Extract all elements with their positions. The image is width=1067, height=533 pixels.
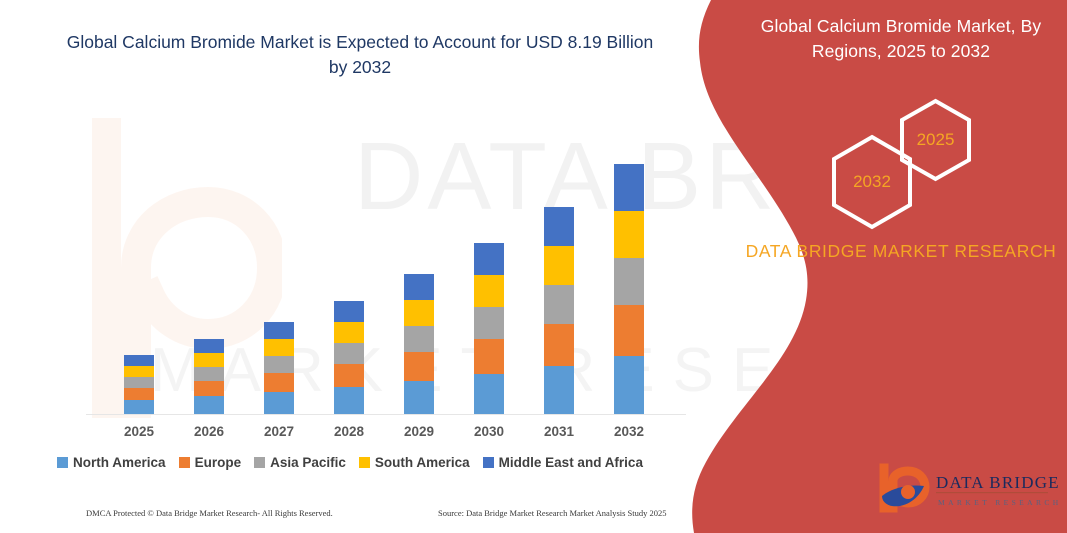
bar-column xyxy=(334,301,364,414)
bar-segment xyxy=(264,322,294,339)
bar-column xyxy=(474,243,504,414)
chart-baseline xyxy=(86,414,686,415)
stacked-bars xyxy=(104,100,664,414)
chart-legend: North AmericaEuropeAsia PacificSouth Ame… xyxy=(0,455,700,470)
legend-item[interactable]: South America xyxy=(359,455,470,470)
legend-label: South America xyxy=(375,455,470,470)
bar-column xyxy=(404,274,434,414)
x-axis-label: 2027 xyxy=(244,424,314,439)
bar-segment xyxy=(474,275,504,307)
data-bridge-logo: DATA BRIDGE MARKET RESEARCH xyxy=(878,462,1058,514)
legend-label: Asia Pacific xyxy=(270,455,346,470)
bar-segment xyxy=(124,366,154,377)
bar-segment xyxy=(614,164,644,211)
x-axis-label: 2030 xyxy=(454,424,524,439)
bar-column xyxy=(194,339,224,414)
hexagon-2032-label: 2032 xyxy=(829,134,915,230)
bar-segment xyxy=(544,285,574,324)
bar-segment xyxy=(614,356,644,414)
legend-label: North America xyxy=(73,455,166,470)
bar-segment xyxy=(264,339,294,356)
bar-segment xyxy=(334,343,364,364)
x-axis-labels: 20252026202720282029203020312032 xyxy=(104,424,664,444)
svg-text:MARKET RESEARCH: MARKET RESEARCH xyxy=(938,498,1058,507)
x-axis-label: 2029 xyxy=(384,424,454,439)
panel-content: Global Calcium Bromide Market, By Region… xyxy=(735,0,1067,533)
logo-mark-icon xyxy=(882,468,925,508)
bar-column xyxy=(124,355,154,414)
bar-segment xyxy=(474,339,504,374)
legend-swatch-icon xyxy=(483,457,494,468)
x-axis-label: 2025 xyxy=(104,424,174,439)
legend-swatch-icon xyxy=(359,457,370,468)
bar-segment xyxy=(334,387,364,414)
bar-segment xyxy=(474,307,504,339)
bar-segment xyxy=(124,377,154,388)
x-axis-label: 2028 xyxy=(314,424,384,439)
panel-brand-name: DATA BRIDGE MARKET RESEARCH xyxy=(741,238,1061,264)
bar-segment xyxy=(614,211,644,258)
bar-segment xyxy=(194,381,224,396)
bar-segment xyxy=(194,339,224,353)
bar-segment xyxy=(124,400,154,414)
bar-segment xyxy=(614,258,644,305)
bar-column xyxy=(544,207,574,414)
x-axis-label: 2032 xyxy=(594,424,664,439)
bar-column xyxy=(264,322,294,414)
x-axis-label: 2031 xyxy=(524,424,594,439)
bar-segment xyxy=(264,356,294,373)
bar-segment xyxy=(404,381,434,414)
bar-segment xyxy=(544,366,574,414)
legend-label: Middle East and Africa xyxy=(499,455,643,470)
bar-segment xyxy=(264,373,294,392)
bar-segment xyxy=(404,300,434,326)
footer: DMCA Protected © Data Bridge Market Rese… xyxy=(86,508,686,518)
bar-segment xyxy=(334,301,364,322)
bar-segment xyxy=(334,364,364,387)
bar-segment xyxy=(124,388,154,400)
svg-text:DATA BRIDGE: DATA BRIDGE xyxy=(936,473,1058,492)
bar-segment xyxy=(194,353,224,367)
chart-title: Global Calcium Bromide Market is Expecte… xyxy=(60,30,660,80)
panel-title: Global Calcium Bromide Market, By Region… xyxy=(745,14,1057,65)
infographic-root: DATA BRIDGE MARKET RESEARCH Global Calci… xyxy=(0,0,1067,533)
hexagon-2032: 2032 xyxy=(829,134,915,230)
bar-segment xyxy=(334,322,364,343)
footer-copyright: DMCA Protected © Data Bridge Market Rese… xyxy=(86,508,438,518)
legend-swatch-icon xyxy=(254,457,265,468)
bar-segment xyxy=(404,274,434,300)
legend-swatch-icon xyxy=(179,457,190,468)
legend-item[interactable]: Middle East and Africa xyxy=(483,455,643,470)
bar-segment xyxy=(404,326,434,352)
bar-segment xyxy=(404,352,434,381)
bar-segment xyxy=(544,207,574,246)
legend-label: Europe xyxy=(195,455,242,470)
bar-segment xyxy=(474,374,504,414)
legend-item[interactable]: North America xyxy=(57,455,166,470)
bar-segment xyxy=(194,367,224,381)
bar-segment xyxy=(124,355,154,366)
bar-segment xyxy=(194,396,224,414)
legend-item[interactable]: Europe xyxy=(179,455,242,470)
bar-segment xyxy=(544,324,574,366)
legend-swatch-icon xyxy=(57,457,68,468)
legend-item[interactable]: Asia Pacific xyxy=(254,455,346,470)
x-axis-label: 2026 xyxy=(174,424,244,439)
bar-segment xyxy=(474,243,504,275)
hexagon-group: 2025 2032 xyxy=(735,98,1067,218)
bar-segment xyxy=(264,392,294,414)
bar-column xyxy=(614,164,644,414)
bar-segment xyxy=(544,246,574,285)
footer-source: Source: Data Bridge Market Research Mark… xyxy=(438,508,667,518)
bar-segment xyxy=(614,305,644,356)
